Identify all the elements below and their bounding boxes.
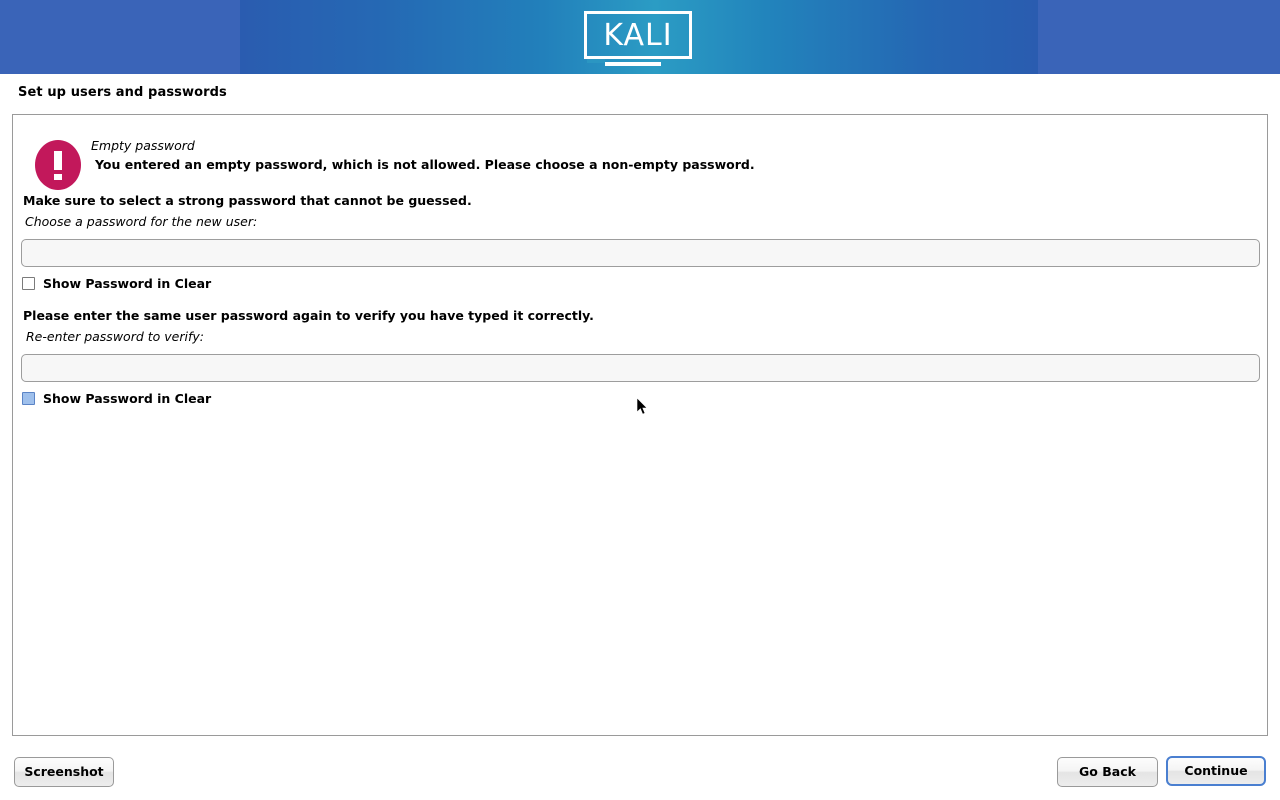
verify-section-heading: Please enter the same user password agai… [23,308,594,323]
kali-logo-text: KALI [584,11,692,59]
show-password-in-clear-row-1[interactable]: Show Password in Clear [22,276,211,291]
password-input[interactable] [21,239,1260,267]
screenshot-button[interactable]: Screenshot [14,757,114,787]
show-password-in-clear-row-2[interactable]: Show Password in Clear [22,391,211,406]
show-password-checkbox-2[interactable] [22,392,35,405]
error-exclamation-icon [35,140,81,190]
verify-field-label: Re-enter password to verify: [26,329,204,344]
content-panel: Empty password You entered an empty pass… [12,114,1268,736]
password-field-label: Choose a password for the new user: [25,214,257,229]
verify-password-input[interactable] [21,354,1260,382]
error-title: Empty password [91,138,195,153]
password-section-heading: Make sure to select a strong password th… [23,193,472,208]
kali-logo: KALI [584,11,696,63]
kali-banner: KALI [0,0,1280,74]
show-password-label-1: Show Password in Clear [43,276,211,291]
page-title: Set up users and passwords [18,85,227,100]
kali-logo-underline [605,62,661,66]
error-message-block: Empty password You entered an empty pass… [23,125,1253,187]
show-password-checkbox-1[interactable] [22,277,35,290]
go-back-button[interactable]: Go Back [1057,757,1158,787]
kali-logo-frame-gap [587,59,605,63]
exclamation-stem [54,151,62,170]
installer-window: KALI Set up users and passwords Empty pa… [0,0,1280,800]
show-password-label-2: Show Password in Clear [43,391,211,406]
exclamation-dot [54,174,62,180]
continue-button[interactable]: Continue [1166,756,1266,786]
error-description: You entered an empty password, which is … [95,157,755,172]
